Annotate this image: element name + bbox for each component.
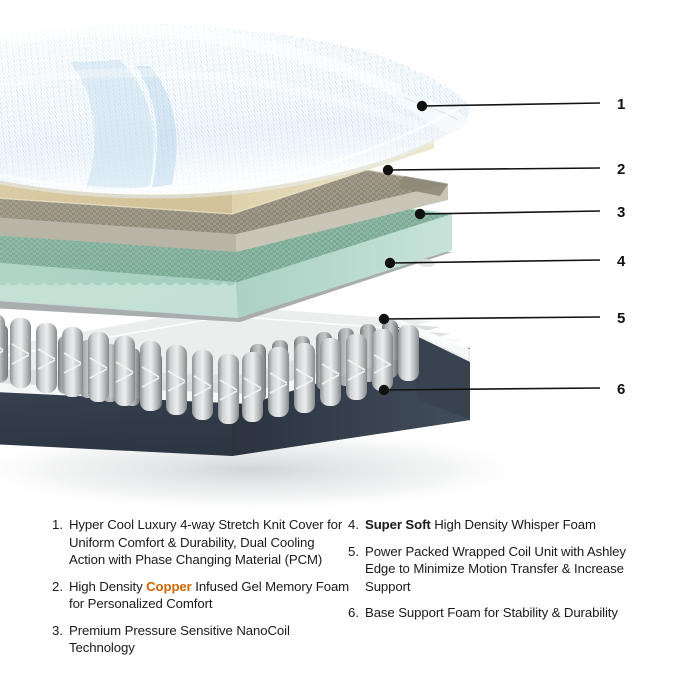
callout-number-2: 2 [617, 162, 625, 177]
legend-item-5: 5. Power Packed Wrapped Coil Unit with A… [348, 543, 648, 596]
callout-number-3: 3 [617, 205, 625, 220]
callout-number-5: 5 [617, 311, 625, 326]
legend-text-4: Super Soft High Density Whisper Foam [365, 516, 596, 534]
leader-line-5 [384, 317, 600, 319]
callout-dot-1 [417, 101, 427, 111]
callout-dot-6 [379, 385, 389, 395]
callout-number-4: 4 [617, 254, 625, 269]
legend-item-3: 3. Premium Pressure Sensitive NanoCoil T… [52, 622, 352, 657]
callout-number-1: 1 [617, 97, 625, 112]
callout-dot-4 [385, 258, 395, 268]
legend: 1. Hyper Cool Luxury 4-way Stretch Knit … [0, 516, 700, 700]
legend-item-6: 6. Base Support Foam for Stability & Dur… [348, 604, 648, 622]
legend-text-6: Base Support Foam for Stability & Durabi… [365, 604, 618, 622]
callout-dot-3 [415, 209, 425, 219]
legend-column-left: 1. Hyper Cool Luxury 4-way Stretch Knit … [52, 516, 352, 666]
legend-item-1: 1. Hyper Cool Luxury 4-way Stretch Knit … [52, 516, 352, 569]
callout-dot-5 [379, 314, 389, 324]
legend-number-1: 1. [52, 516, 69, 534]
legend-text-1: Hyper Cool Luxury 4-way Stretch Knit Cov… [69, 516, 352, 569]
mattress-exploded-illustration: 1 2 3 4 5 6 [0, 0, 700, 510]
legend-text-5: Power Packed Wrapped Coil Unit with Ashl… [365, 543, 648, 596]
legend-text-3: Premium Pressure Sensitive NanoCoil Tech… [69, 622, 352, 657]
callout-dot-2 [383, 165, 393, 175]
legend-number-4: 4. [348, 516, 365, 534]
legend-column-right: 4. Super Soft High Density Whisper Foam … [348, 516, 648, 631]
legend-number-3: 3. [52, 622, 69, 640]
legend-item-2: 2. High Density Copper Infused Gel Memor… [52, 578, 352, 613]
legend-number-6: 6. [348, 604, 365, 622]
leader-line-3 [420, 211, 600, 214]
mattress-construction-diagram: 1 2 3 4 5 6 1. Hyper Cool Luxury 4-way S… [0, 0, 700, 700]
callout-number-6: 6 [617, 382, 625, 397]
legend-item-4: 4. Super Soft High Density Whisper Foam [348, 516, 648, 534]
legend-number-5: 5. [348, 543, 365, 561]
legend-number-2: 2. [52, 578, 69, 596]
leader-line-2 [388, 168, 600, 170]
legend-text-2: High Density Copper Infused Gel Memory F… [69, 578, 352, 613]
